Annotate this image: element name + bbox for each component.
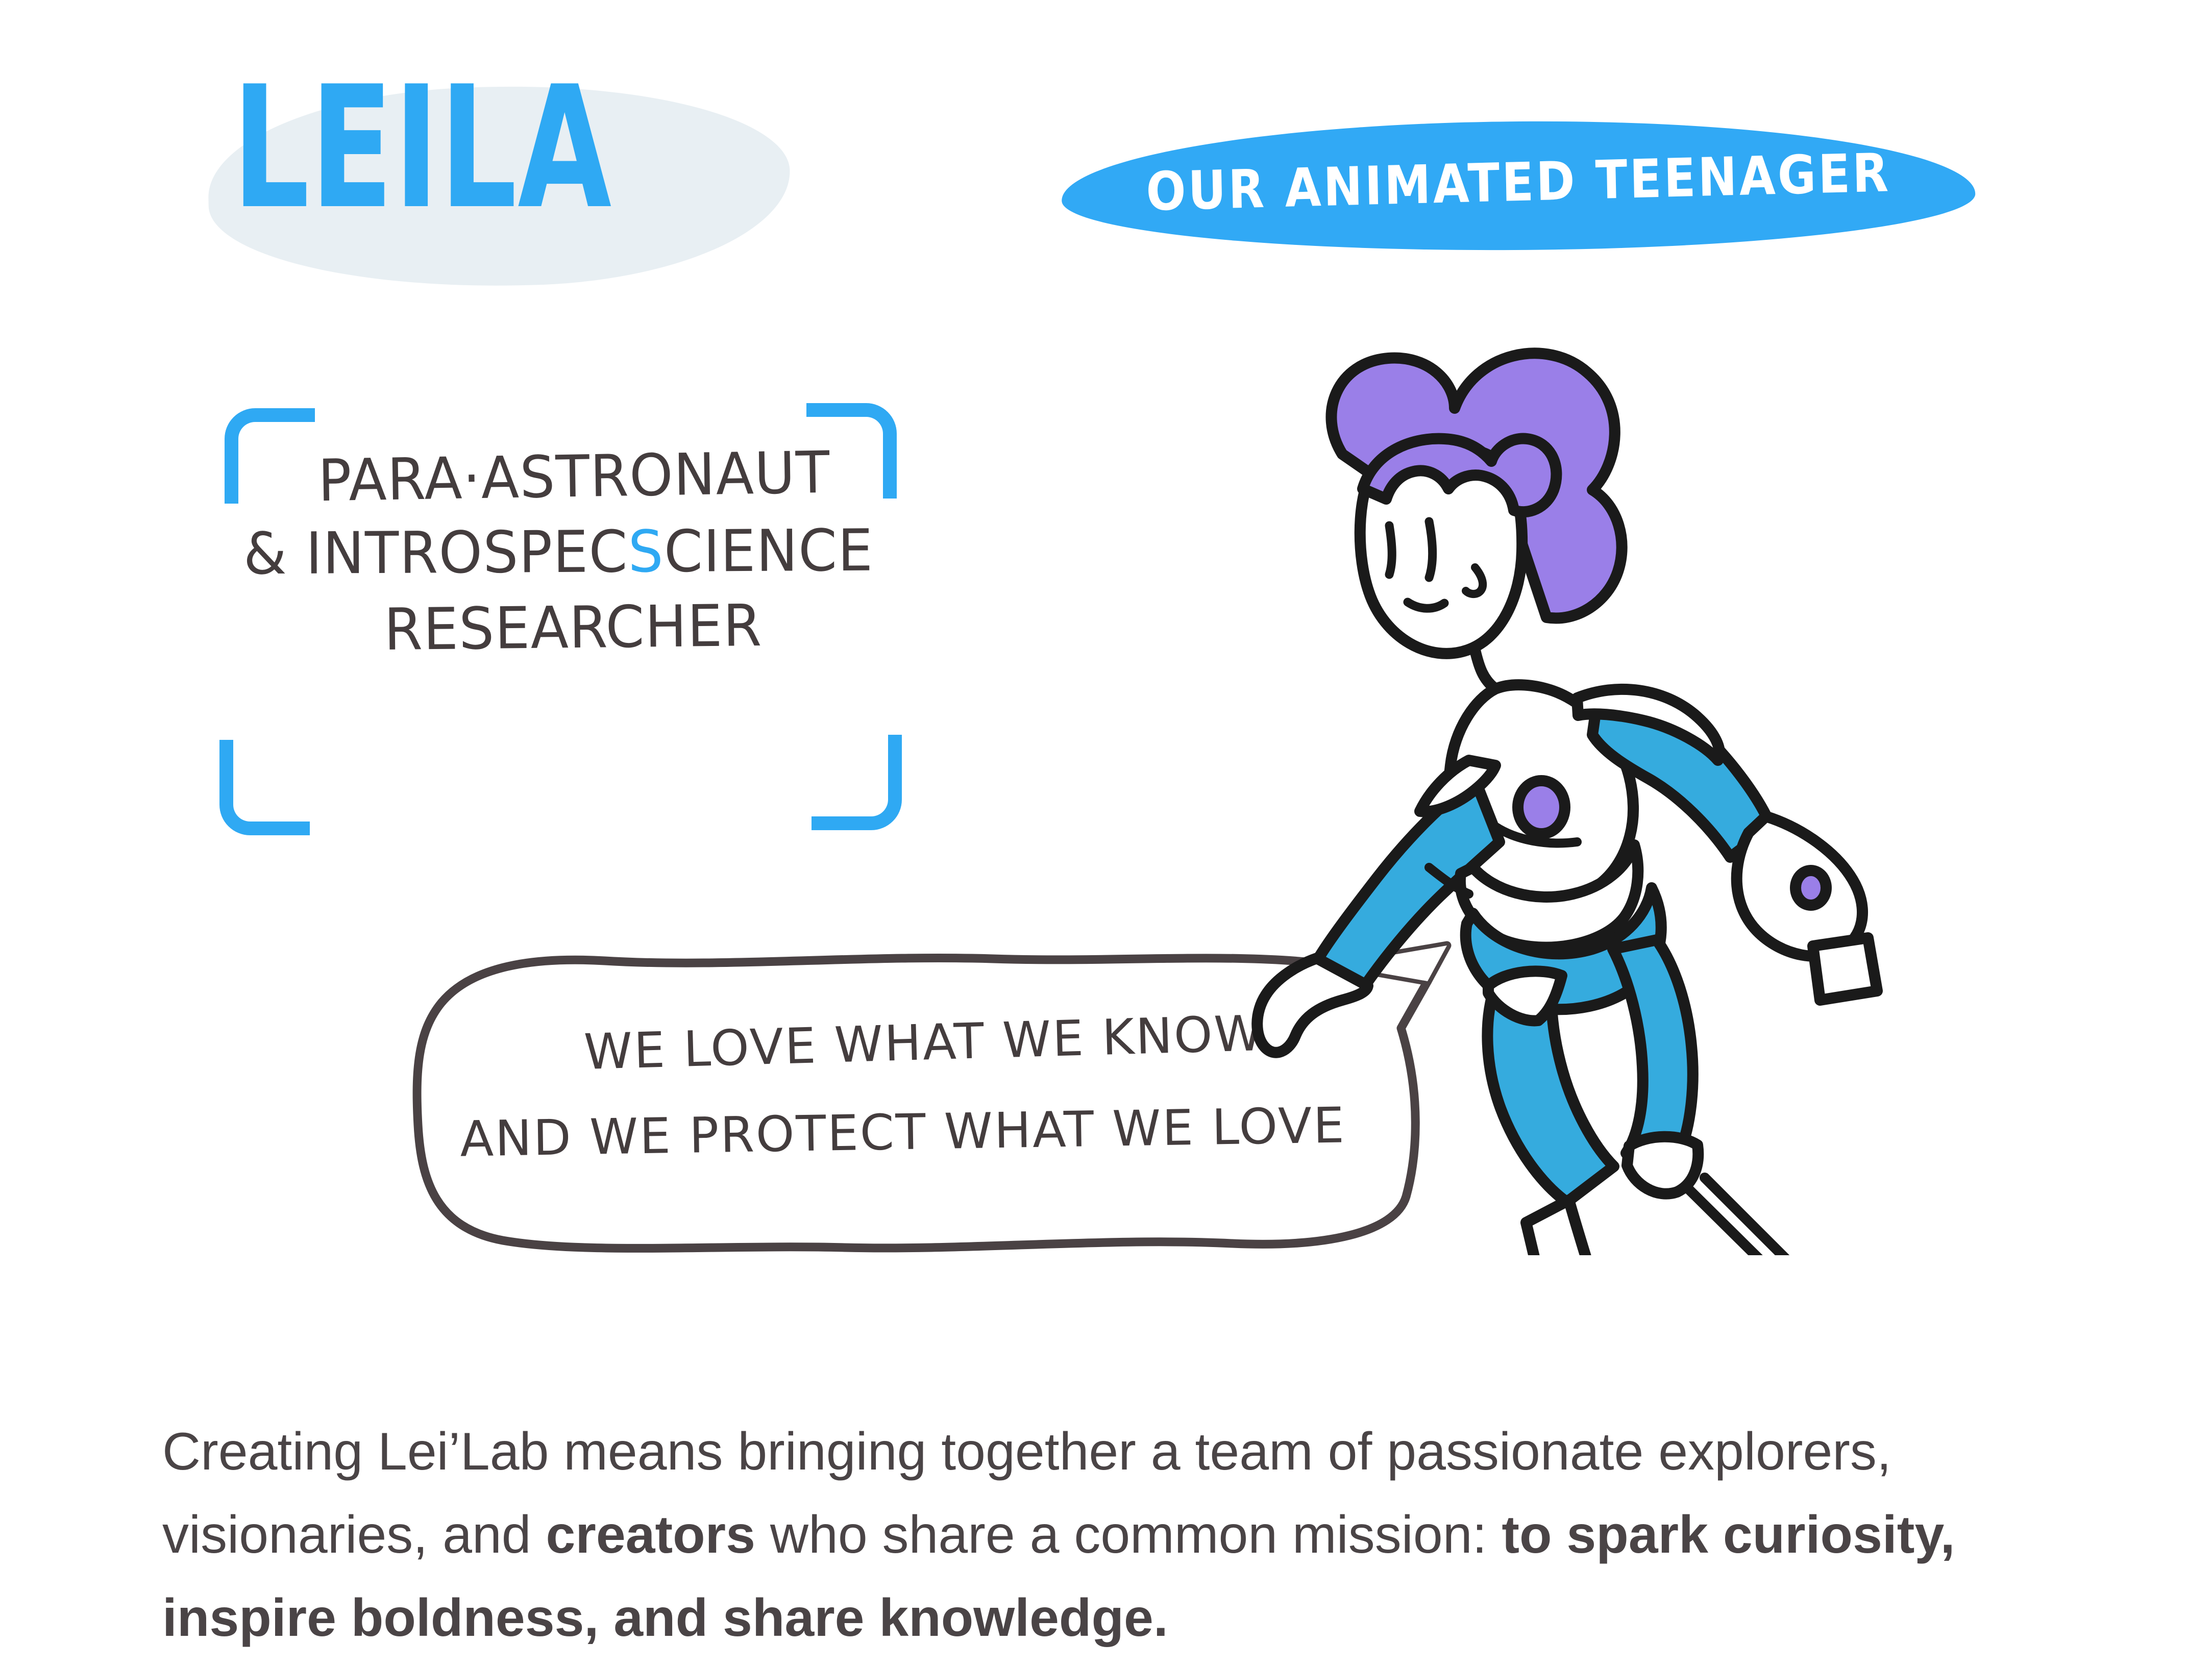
role-line-2-before: & INTROSPEC — [243, 518, 628, 587]
chest-indicator — [1518, 781, 1565, 834]
character-profile-page: LEILA OUR ANIMATED TEENAGER PARA·ASTRONA… — [0, 0, 2212, 1668]
right-thigh — [1613, 940, 1693, 1153]
page-title: LEILA — [232, 64, 644, 253]
role-title: PARA·ASTRONAUT & INTROSPECSCIENCE RESEAR… — [233, 439, 890, 665]
paragraph-bold-1: creators — [546, 1505, 755, 1564]
left-lower-leg — [1526, 1200, 1597, 1255]
bracket-bottom-left-icon — [219, 740, 310, 835]
description-paragraph: Creating Lei’Lab means bringing together… — [162, 1410, 2071, 1660]
leila-character-illustration — [1189, 286, 2031, 1255]
right-glove — [1813, 938, 1877, 1000]
role-line-3: RESEARCHER — [244, 586, 902, 669]
paragraph-part-2: who share a common mission: — [755, 1505, 1502, 1564]
role-line-2-highlight: S — [628, 518, 664, 585]
badge: OUR ANIMATED TEENAGER — [1062, 121, 1975, 250]
role-line-2: & INTROSPECSCIENCE — [230, 512, 887, 591]
forearm-indicator — [1796, 870, 1826, 905]
eye-right — [1429, 521, 1433, 578]
leila-character-svg — [1189, 286, 2031, 1255]
left-knee-pad — [1488, 971, 1562, 1020]
badge-label: OUR ANIMATED TEENAGER — [1115, 111, 1922, 261]
bracket-bottom-right-icon — [812, 735, 902, 830]
neck — [1475, 650, 1495, 689]
role-line-2-after: CIENCE — [664, 517, 874, 585]
left-glove — [1257, 958, 1368, 1053]
eye-left — [1389, 526, 1392, 575]
role-line-1: PARA·ASTRONAUT — [245, 433, 903, 519]
